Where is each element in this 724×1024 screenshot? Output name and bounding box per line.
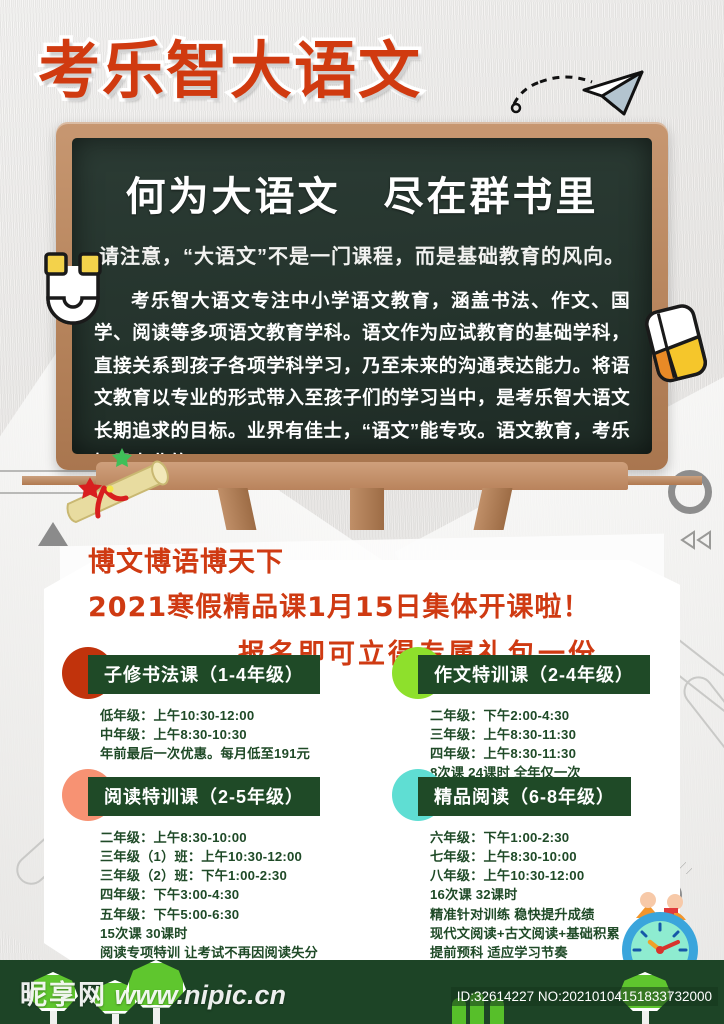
page-title: 考乐智大语文 — [38, 38, 422, 103]
watermark-url: www.nipic.cn — [115, 980, 287, 1010]
course-detail-line: 三年级（2）班：下午1:00-2:30 — [100, 866, 360, 885]
blackboard-frame: 何为大语文 尽在群书里 请注意，“大语文”不是一门课程，而是基础教育的风向。 考… — [56, 122, 668, 470]
course-detail-line: 四年级：下午3:00-4:30 — [100, 885, 360, 904]
site-watermark: 昵享网 www.nipic.cn — [20, 973, 286, 1012]
blackboard-headline: 何为大语文 尽在群书里 — [72, 164, 652, 222]
course-card[interactable]: 子修书法课（1-4年级） 低年级：上午10:30-12:00中年级：上午8:30… — [60, 655, 360, 763]
course-detail-line: 七年级：上午8:30-10:00 — [430, 847, 690, 866]
course-card-list: 子修书法课（1-4年级） 低年级：上午10:30-12:00中年级：上午8:30… — [60, 655, 680, 955]
paper-plane-icon — [506, 58, 646, 124]
course-detail-line: 八年级：上午10:30-12:00 — [430, 866, 690, 885]
course-detail-line: 六年级：下午1:00-2:30 — [430, 828, 690, 847]
footer-bar: 昵享网 www.nipic.cn ID:32614227 NO:20210104… — [0, 960, 724, 1024]
course-detail-line: 二年级：下午2:00-4:30 — [430, 706, 690, 725]
course-detail-line: 四年级：上午8:30-11:30 — [430, 744, 690, 763]
course-detail-line: 低年级：上午10:30-12:00 — [100, 706, 360, 725]
magnet-icon — [34, 248, 112, 330]
promo-line-1: 博文博语博天下 — [88, 540, 724, 579]
course-detail-line: 二年级：上午8:30-10:00 — [100, 828, 360, 847]
course-detail-line: 年前最后一次优惠。每月低至191元 — [100, 744, 360, 763]
diploma-scroll-icon — [62, 444, 178, 530]
course-detail-line: 中年级：上午8:30-10:30 — [100, 725, 360, 744]
course-detail-line: 三年级：上午8:30-11:30 — [430, 725, 690, 744]
blackboard-body-text: 考乐智大语文专注中小学语文教育，涵盖书法、作文、国学、阅读等多项语文教育学科。语… — [94, 285, 630, 454]
promo-line-2: 2021寒假精品课1月15日集体开课啦！ — [88, 585, 724, 624]
course-title: 作文特训课（2-4年级） — [418, 655, 650, 694]
blackboard-subtitle: 请注意，“大语文”不是一门课程，而是基础教育的风向。 — [72, 240, 652, 269]
course-detail-line: 五年级：下午5:00-6:30 — [100, 905, 360, 924]
course-title: 精品阅读（6-8年级） — [418, 777, 631, 816]
course-title: 阅读特训课（2-5年级） — [88, 777, 320, 816]
blackboard-surface: 何为大语文 尽在群书里 请注意，“大语文”不是一门课程，而是基础教育的风向。 考… — [72, 138, 652, 454]
course-detail-line: 三年级（1）班：上午10:30-12:00 — [100, 847, 360, 866]
course-title: 子修书法课（1-4年级） — [88, 655, 320, 694]
course-details: 低年级：上午10:30-12:00中年级：上午8:30-10:30年前最后一次优… — [100, 706, 360, 763]
course-detail-line: 15次课 30课时 — [100, 924, 360, 943]
image-id-tag: ID:32614227 NO:20210104151833732000 — [451, 987, 718, 1006]
watermark-cn: 昵享网 — [20, 980, 107, 1010]
easel-leg-center — [350, 488, 384, 530]
promo-block: 博文博语博天下 2021寒假精品课1月15日集体开课啦！ 报名即可立得专属礼包一… — [0, 540, 724, 671]
poster-canvas: 考乐智大语文 何为大语文 尽在群书里 请注意，“大语文”不是一门课程，而是基础教… — [0, 0, 724, 1024]
